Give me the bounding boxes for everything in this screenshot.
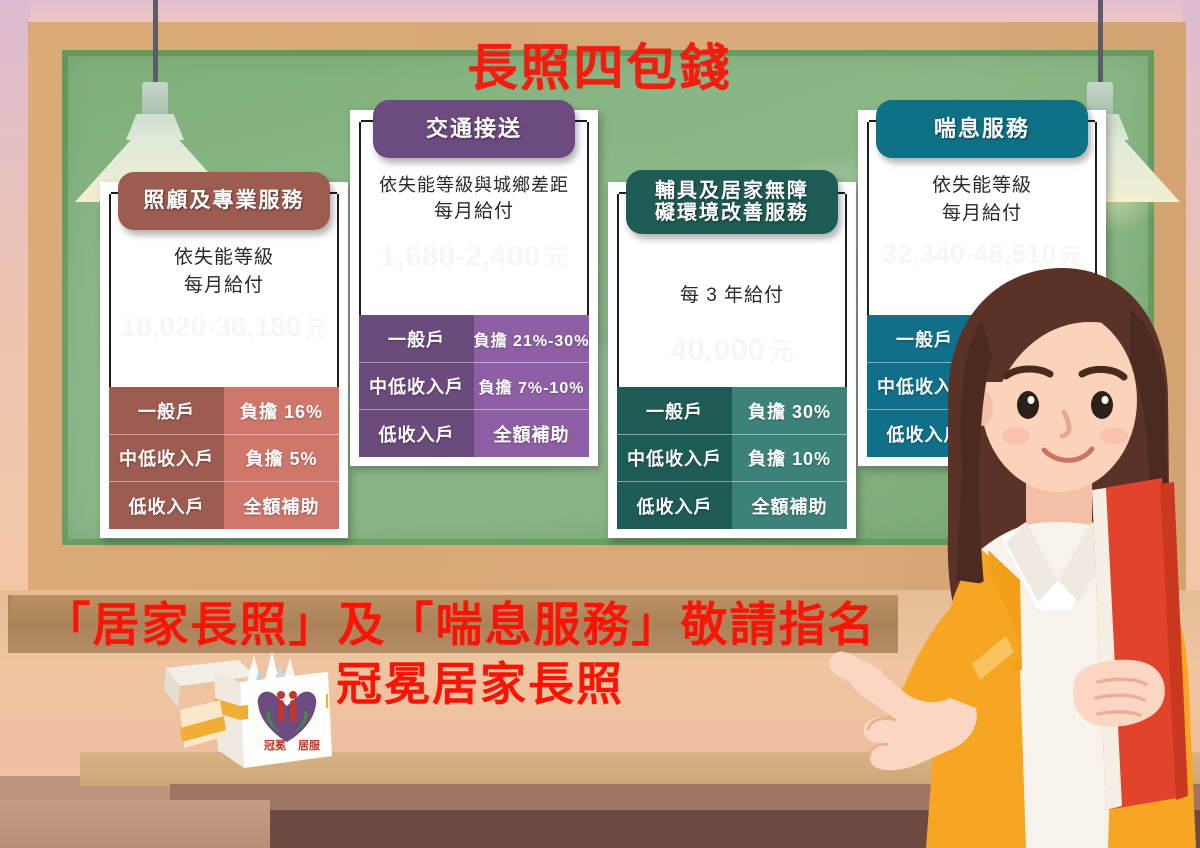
rate-label: 中低收入戶 bbox=[109, 434, 224, 481]
card-rate-table: 一般戶 負擔 16% 中低收入戶 負擔 5% 低收入戶 全額補助 bbox=[109, 387, 339, 529]
card-amount-value: 40,000 bbox=[670, 332, 765, 367]
rate-row: 低收入戶 全額補助 bbox=[109, 481, 339, 529]
card-amount: 10,020-36,180元 bbox=[111, 311, 337, 343]
rate-row: 一般戶 負擔 16% bbox=[109, 387, 339, 434]
rate-label: 低收入戶 bbox=[617, 481, 732, 529]
rate-label: 一般戶 bbox=[359, 315, 474, 362]
logo-text-right: 居服 bbox=[298, 739, 321, 752]
rate-label: 中低收入戶 bbox=[359, 362, 474, 409]
card-title-pill: 輔具及居家無障 礙環境改善服務 bbox=[626, 170, 838, 234]
card-amount-unit: 元 bbox=[305, 316, 327, 341]
card-title: 喘息服務 bbox=[934, 117, 1030, 142]
desk-side bbox=[0, 800, 270, 848]
rate-row: 一般戶 負擔 30% bbox=[617, 387, 847, 434]
rate-row: 低收入戶 全額補助 bbox=[359, 409, 589, 457]
rate-label: 一般戶 bbox=[109, 387, 224, 434]
card-amount-value: 1,680-2,400 bbox=[380, 240, 540, 273]
card-title: 輔具及居家無障 礙環境改善服務 bbox=[655, 180, 809, 225]
card-assistive-device-home-accessibility[interactable]: 輔具及居家無障 礙環境改善服務 每 3 年給付 40,000元 一般戶 負擔 3… bbox=[608, 182, 856, 538]
presenter-illustration bbox=[830, 250, 1200, 848]
card-subline-1: 依失能等級 bbox=[111, 244, 337, 272]
card-title-pill: 喘息服務 bbox=[876, 100, 1088, 158]
rate-row: 中低收入戶 負擔 5% bbox=[109, 434, 339, 481]
rate-label: 低收入戶 bbox=[109, 481, 224, 529]
card-amount: 40,000元 bbox=[619, 332, 845, 368]
card-rate-table: 一般戶 負擔 21%-30% 中低收入戶 負擔 7%-10% 低收入戶 全額補助 bbox=[359, 315, 589, 457]
card-body: 依失能等級與城鄉差距 每月給付 1,680-2,400元 bbox=[361, 172, 587, 274]
card-care-professional-service[interactable]: 照顧及專業服務 依失能等級 每月給付 10,020-36,180元 一般戶 負擔… bbox=[100, 182, 348, 538]
card-subline-1: 依失能等級 bbox=[869, 172, 1095, 200]
card-transportation[interactable]: 交通接送 依失能等級與城鄉差距 每月給付 1,680-2,400元 一般戶 負擔… bbox=[350, 110, 598, 466]
rate-row: 中低收入戶 負擔 7%-10% bbox=[359, 362, 589, 409]
card-title: 照顧及專業服務 bbox=[144, 189, 305, 213]
card-body: 每 3 年給付 40,000元 bbox=[619, 282, 845, 368]
promo-line-2: 冠冕居家長照 bbox=[0, 648, 960, 714]
card-body: 依失能等級 每月給付 10,020-36,180元 bbox=[111, 244, 337, 343]
card-title-pill: 交通接送 bbox=[373, 100, 575, 158]
card-subline-2: 每月給付 bbox=[869, 200, 1095, 228]
rate-value: 負擔 21%-30% bbox=[474, 315, 589, 362]
rate-label: 中低收入戶 bbox=[617, 434, 732, 481]
rate-value: 全額補助 bbox=[224, 481, 339, 529]
card-subline-2: 每月給付 bbox=[111, 272, 337, 300]
rate-row: 低收入戶 全額補助 bbox=[617, 481, 847, 529]
card-subline-2: 每月給付 bbox=[361, 198, 587, 226]
card-title-pill: 照顧及專業服務 bbox=[118, 172, 330, 230]
card-rate-table: 一般戶 負擔 30% 中低收入戶 負擔 10% 低收入戶 全額補助 bbox=[617, 387, 847, 529]
rate-row: 中低收入戶 負擔 10% bbox=[617, 434, 847, 481]
rate-label: 一般戶 bbox=[617, 387, 732, 434]
rate-value: 全額補助 bbox=[474, 409, 589, 457]
card-title: 交通接送 bbox=[426, 117, 522, 142]
rate-value: 負擔 16% bbox=[224, 387, 339, 434]
page-title: 長照四包錢 bbox=[0, 28, 1200, 100]
rate-row: 一般戶 負擔 21%-30% bbox=[359, 315, 589, 362]
card-subline-1: 每 3 年給付 bbox=[619, 282, 845, 310]
card-amount-unit: 元 bbox=[769, 339, 794, 366]
logo-text-left: 冠冕 bbox=[264, 739, 286, 752]
rate-value: 負擔 7%-10% bbox=[474, 362, 589, 409]
rate-label: 低收入戶 bbox=[359, 409, 474, 457]
card-subline-1: 依失能等級與城鄉差距 bbox=[361, 172, 587, 198]
card-amount-value: 10,020-36,180 bbox=[121, 311, 302, 342]
card-amount: 1,680-2,400元 bbox=[361, 238, 587, 274]
promo-line-1: 「居家長照」及「喘息服務」敬請指名 bbox=[0, 586, 920, 655]
rate-value: 負擔 5% bbox=[224, 434, 339, 481]
infographic-stage: 長照四包錢 照顧及專業服務 依失能等級 每月給付 10,020-36,180元 … bbox=[0, 0, 1200, 848]
card-amount-unit: 元 bbox=[544, 245, 568, 272]
